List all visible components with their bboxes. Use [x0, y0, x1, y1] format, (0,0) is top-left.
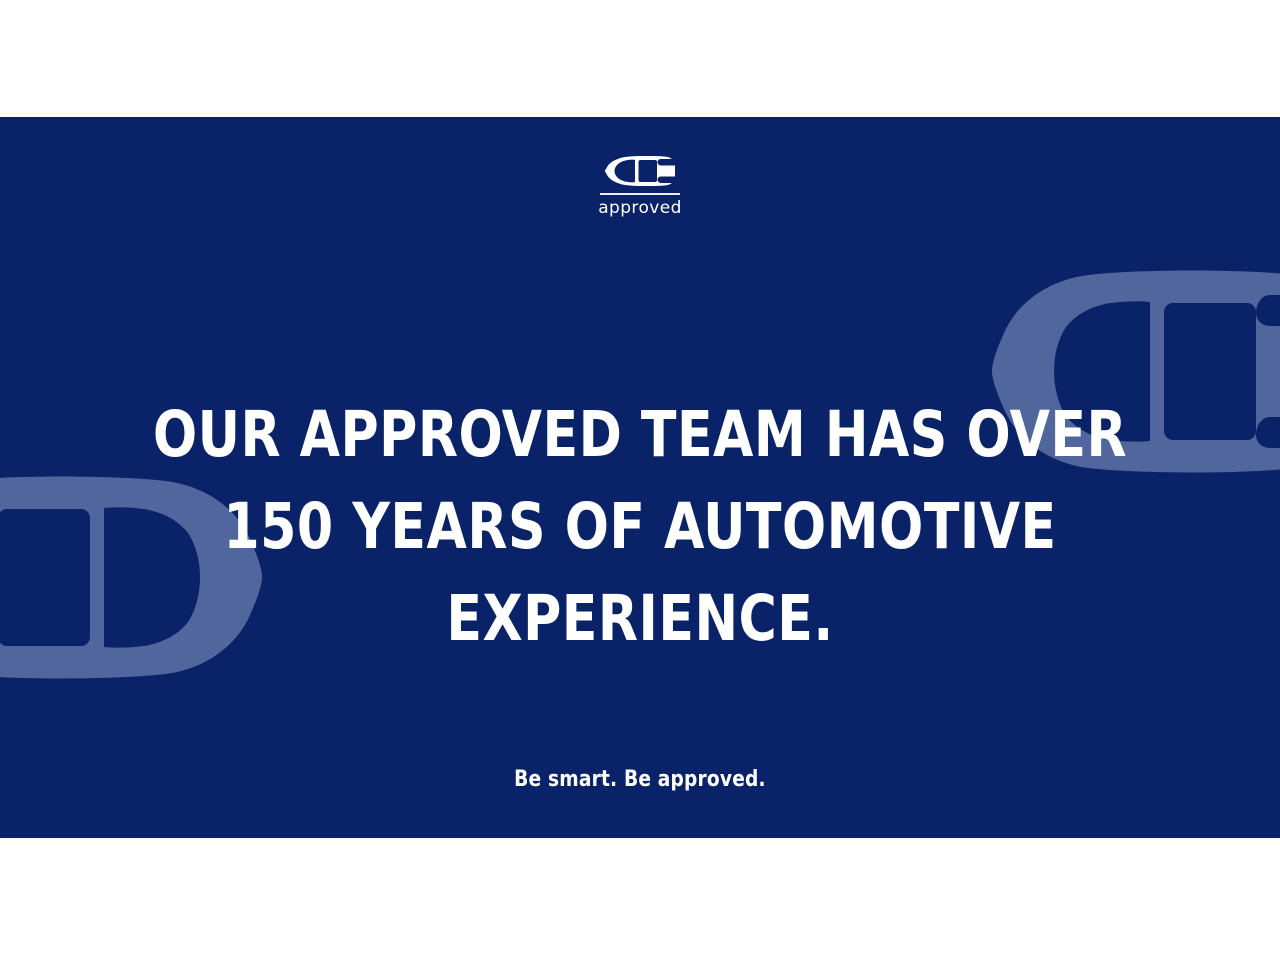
page-title: OUR APPROVED TEAM HAS OVER 150 YEARS OF …	[51, 389, 1229, 665]
headline-line-2: 150 YEARS OF AUTOMOTIVE	[51, 481, 1229, 573]
headline-line-1: OUR APPROVED TEAM HAS OVER	[51, 389, 1229, 481]
brand-logo: approved	[580, 156, 700, 217]
brand-tagline: Be smart. Be approved.	[38, 767, 1241, 792]
car-top-view-icon	[605, 156, 675, 186]
slide-canvas: approved OUR APPROVED TEAM HAS OVER 150 …	[0, 0, 1280, 960]
headline-line-3: EXPERIENCE.	[51, 573, 1229, 665]
logo-divider	[600, 193, 680, 195]
hero-panel: approved OUR APPROVED TEAM HAS OVER 150 …	[0, 117, 1280, 838]
logo-wordmark: approved	[598, 199, 682, 218]
